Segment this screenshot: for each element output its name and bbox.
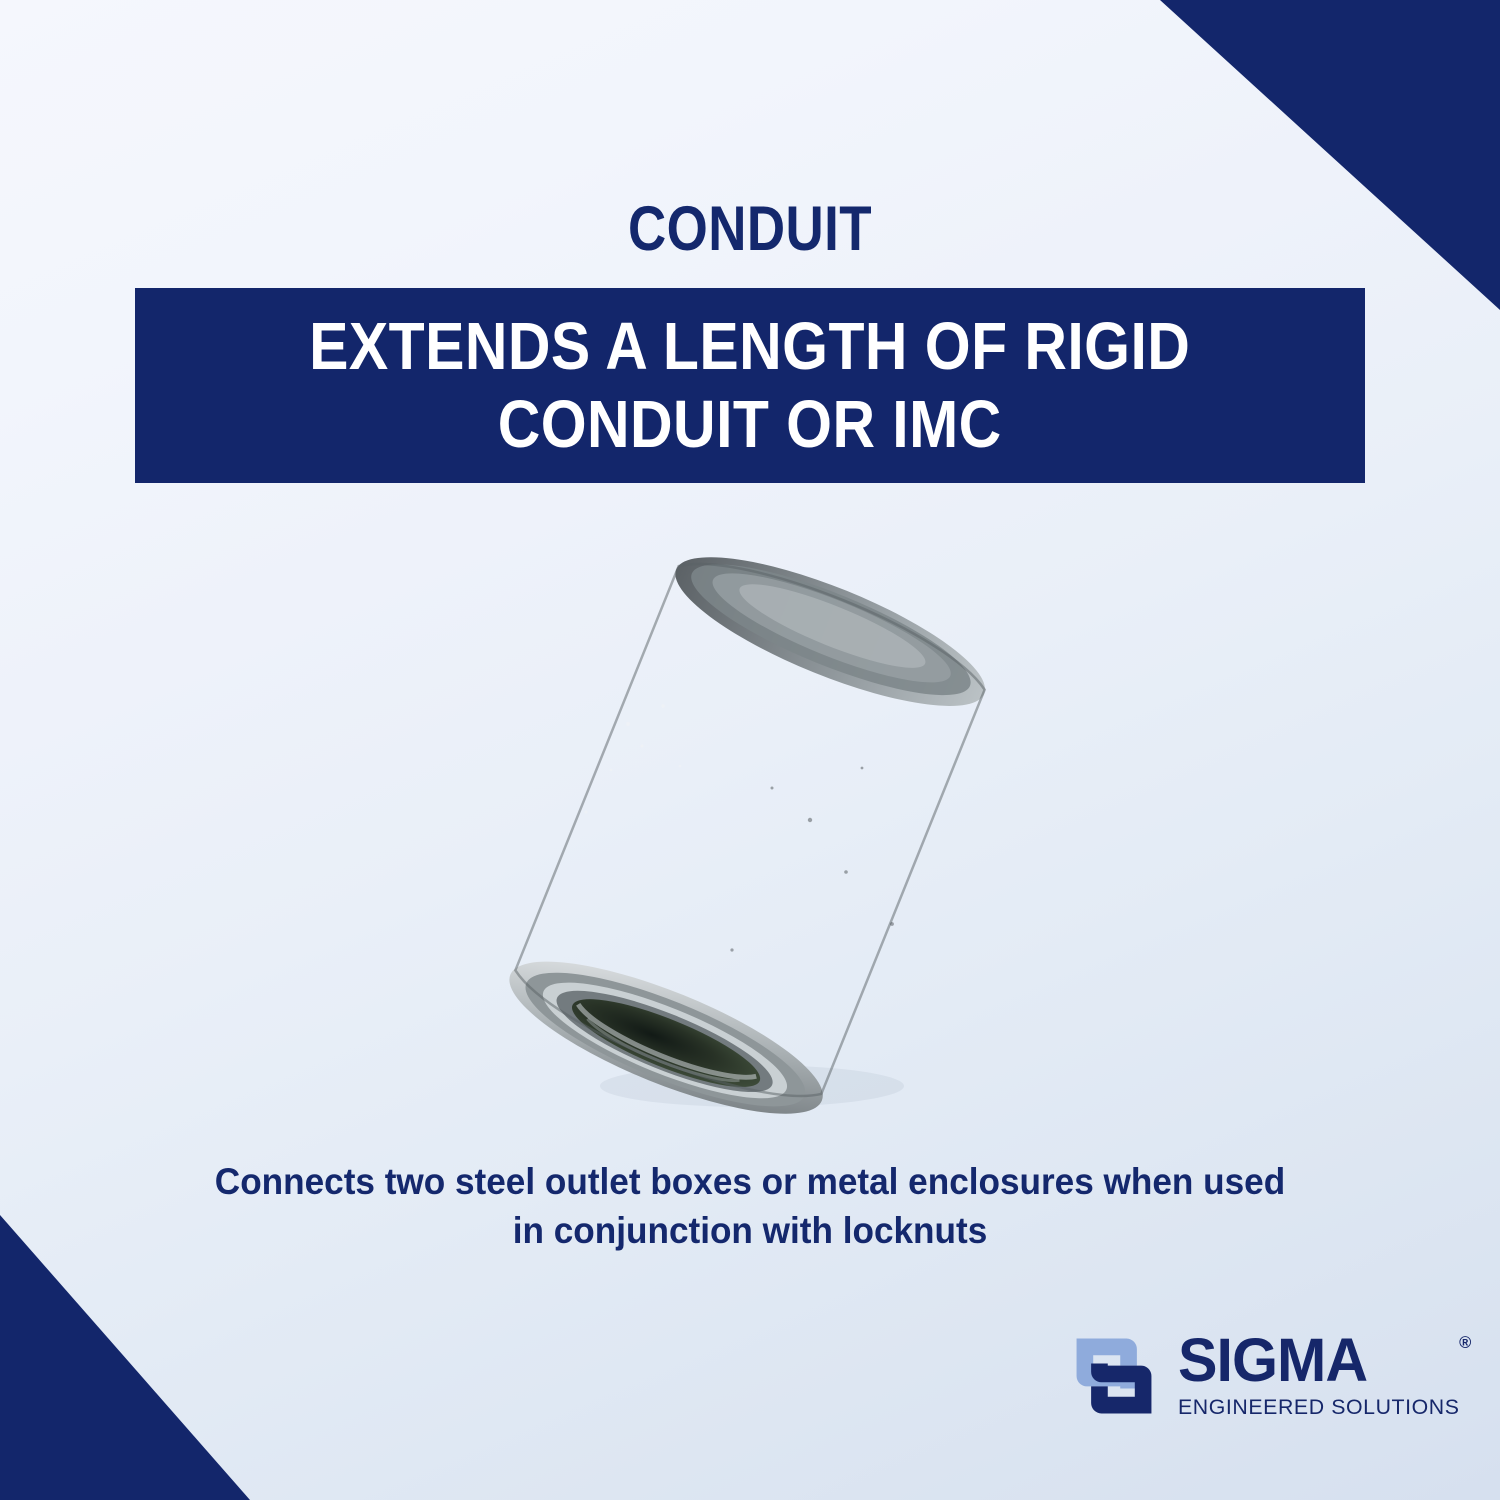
logo-wordmark-block: SIGMA® ENGINEERED SOLUTIONS: [1178, 1332, 1462, 1419]
sigma-logo-icon: [1062, 1324, 1166, 1428]
product-image: [380, 520, 1120, 1140]
corner-accent-bottom-left: [0, 1215, 250, 1500]
logo-wordmark-text: SIGMA: [1178, 1326, 1367, 1394]
headline-banner: EXTENDS A LENGTH OF RIGID CONDUIT OR IMC: [135, 288, 1365, 483]
header-block: CONDUIT: [0, 198, 1500, 287]
page-title: CONDUIT: [120, 198, 1380, 261]
logo-wordmark: SIGMA®: [1178, 1332, 1454, 1388]
logo-tagline: ENGINEERED SOLUTIONS: [1178, 1397, 1460, 1419]
headline-text: EXTENDS A LENGTH OF RIGID CONDUIT OR IMC: [309, 308, 1190, 463]
registered-trademark-icon: ®: [1459, 1334, 1470, 1351]
conduit-nipple-illustration: [380, 520, 1120, 1140]
product-description: Connects two steel outlet boxes or metal…: [199, 1158, 1301, 1256]
brand-logo: SIGMA® ENGINEERED SOLUTIONS: [1062, 1318, 1407, 1433]
product-poster: CONDUIT EXTENDS A LENGTH OF RIGID CONDUI…: [0, 0, 1500, 1500]
